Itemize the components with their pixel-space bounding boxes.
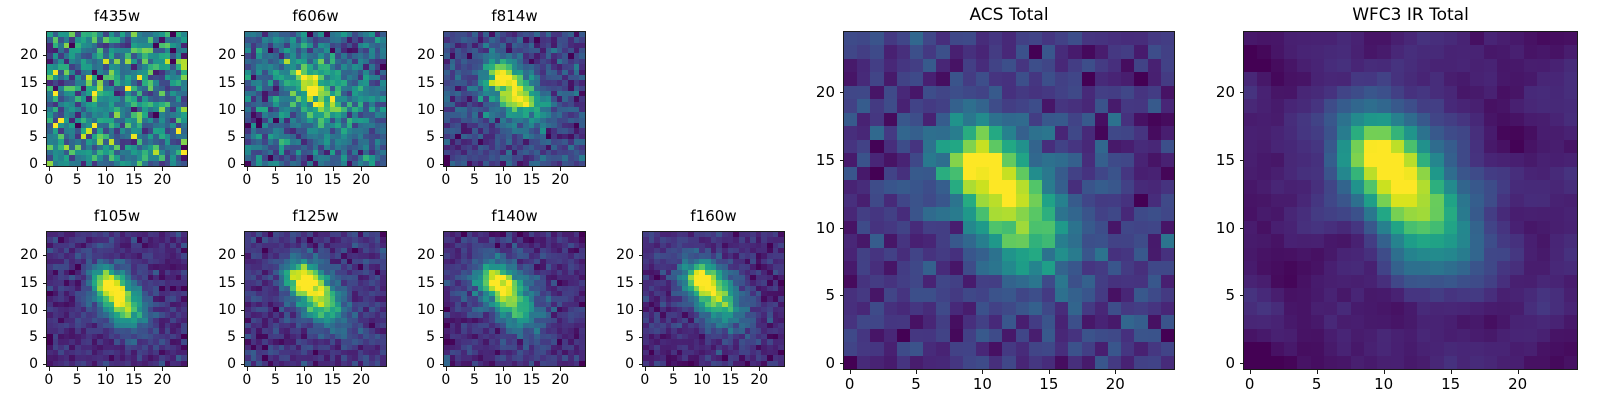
heatmap-cell [857,207,870,220]
heatmap-cell [1082,72,1095,85]
heatmap-cell [910,59,923,72]
heatmap-cell [1134,126,1147,139]
heatmap-cell [1002,180,1015,193]
heatmap-cell [936,113,949,126]
heatmap-axes [843,31,1175,370]
heatmap-cell [910,45,923,58]
y-axis-tick-label: 0 [227,356,236,372]
heatmap-cell [1108,86,1121,99]
x-axis-tick-label: 15 [125,372,143,388]
heatmap-cell [1161,153,1174,166]
heatmap-cell [1042,167,1055,180]
heatmap-cell [1148,194,1161,207]
heatmap-cell [923,86,936,99]
x-axis-tick [304,167,305,171]
heatmap-cell [884,248,897,261]
y-axis-tick [43,137,47,138]
y-axis-tick-label: 15 [20,75,38,91]
heatmap-cell [1082,86,1095,99]
heatmap-cell [1068,72,1081,85]
y-axis-tick [241,83,245,84]
heatmap-cell [1148,180,1161,193]
y-axis-tick-label: 15 [417,75,435,91]
heatmap-cell [989,261,1002,274]
heatmap-cell [950,167,963,180]
heatmap-cell [1042,113,1055,126]
panel-f125w: f125w0510152005101520 [244,231,387,367]
heatmap-cell [1134,59,1147,72]
y-axis-tick [241,364,245,365]
heatmap-cell [936,180,949,193]
heatmap-cell [923,167,936,180]
heatmap-cell [1121,194,1134,207]
heatmap-cell [950,72,963,85]
heatmap-cell [1161,45,1174,58]
heatmap-cell [1016,126,1029,139]
heatmap-cell [963,72,976,85]
heatmap-cell [1002,32,1015,45]
heatmap-cell [884,261,897,274]
heatmap-cell [844,99,857,112]
heatmap-cell [1134,234,1147,247]
heatmap-cell [950,126,963,139]
x-axis-tick [134,367,135,371]
heatmap-cell [884,234,897,247]
heatmap-cell [1055,99,1068,112]
heatmap-cell [857,153,870,166]
heatmap-cell [1148,126,1161,139]
heatmap-cell [1082,113,1095,126]
heatmap-cell [1068,99,1081,112]
y-axis-tick [43,364,47,365]
heatmap-cell [1082,59,1095,72]
x-axis-tick-label: 20 [352,172,370,188]
y-axis-tick-label: 0 [29,156,38,172]
heatmap-cell [1042,221,1055,234]
panel-title: f125w [244,207,387,225]
y-axis-tick-label: 10 [616,302,634,318]
heatmap-cell [884,221,897,234]
heatmap-cell [1068,248,1081,261]
heatmap-cell [870,86,883,99]
heatmap-cell [910,261,923,274]
y-axis-tick [43,110,47,111]
heatmap-cell [963,99,976,112]
x-axis-tick-label: 15 [324,372,342,388]
heatmap-cell [1042,234,1055,247]
x-axis-tick-label: 0 [441,372,450,388]
heatmap-cell [844,45,857,58]
heatmap-cell [1016,221,1029,234]
heatmap-cell [989,45,1002,58]
heatmap-cell [1095,153,1108,166]
heatmap-cell [1055,167,1068,180]
heatmap-cell [870,113,883,126]
x-axis-tick [77,167,78,171]
heatmap-cell [923,153,936,166]
x-axis-tick [560,167,561,171]
heatmap-cell [1055,207,1068,220]
heatmap-cell [1029,207,1042,220]
heatmap-cell [1068,86,1081,99]
heatmap-cell [1121,261,1134,274]
x-axis-tick-label: 10 [295,172,313,188]
heatmap-cell [989,59,1002,72]
heatmap-cell [950,153,963,166]
heatmap-cell [1161,113,1174,126]
x-axis-tick [759,367,760,371]
heatmap-cell [910,167,923,180]
heatmap-cell [1095,140,1108,153]
heatmap-cell [1029,45,1042,58]
heatmap-cell [923,207,936,220]
x-axis-tick [247,167,248,171]
heatmap-cell [1068,234,1081,247]
heatmap-grid [245,32,386,166]
heatmap-cell [1016,113,1029,126]
heatmap-cell [923,32,936,45]
x-axis-tick [361,367,362,371]
heatmap-cell [857,113,870,126]
heatmap-cell [963,153,976,166]
y-axis-tick [440,310,444,311]
x-axis-tick [702,367,703,371]
heatmap-cell [897,32,910,45]
x-axis-tick-label: 15 [523,172,541,188]
heatmap-cell [870,72,883,85]
heatmap-cell [1082,207,1095,220]
heatmap-cell [1095,99,1108,112]
heatmap-cell [844,72,857,85]
heatmap-cell [1002,234,1015,247]
heatmap-cell [989,248,1002,261]
heatmap-cell [976,99,989,112]
heatmap-cell [1016,207,1029,220]
heatmap-cell [579,361,585,366]
heatmap-cell [884,167,897,180]
heatmap-cell [1042,153,1055,166]
heatmap-cell [936,153,949,166]
heatmap-cell [870,153,883,166]
heatmap-cell [963,113,976,126]
x-axis-tick [77,367,78,371]
heatmap-cell [1121,86,1134,99]
y-axis-tick [241,110,245,111]
y-axis-tick-label: 5 [426,129,435,145]
heatmap-cell [1042,140,1055,153]
heatmap-cell [1068,180,1081,193]
heatmap-grid [47,32,187,166]
heatmap-cell [910,140,923,153]
y-axis-tick [440,83,444,84]
y-axis-tick-label: 10 [218,302,236,318]
heatmap-cell [1082,234,1095,247]
heatmap-cell [857,167,870,180]
heatmap-cell [989,180,1002,193]
heatmap-cell [884,86,897,99]
heatmap-cell [897,167,910,180]
heatmap-cell [897,153,910,166]
heatmap-cell [1068,194,1081,207]
heatmap-cell [936,207,949,220]
heatmap-cell [1134,45,1147,58]
heatmap-cell [1029,140,1042,153]
heatmap-cell [976,207,989,220]
heatmap-cell [1121,248,1134,261]
heatmap-cell [1042,180,1055,193]
y-axis-tick-label: 0 [227,156,236,172]
heatmap-cell [1055,72,1068,85]
heatmap-cell [910,234,923,247]
heatmap-cell [897,194,910,207]
heatmap-cell [1095,221,1108,234]
heatmap-cell [1016,153,1029,166]
heatmap-cell [1029,261,1042,274]
heatmap-cell [1029,180,1042,193]
heatmap-cell [857,126,870,139]
heatmap-cell [1095,194,1108,207]
heatmap-cell [1161,140,1174,153]
panel-f140w: f140w0510152005101520 [443,231,586,367]
heatmap-cell [857,248,870,261]
heatmap-cell [844,275,857,288]
heatmap-cell [923,45,936,58]
heatmap-cell [1029,86,1042,99]
heatmap-cell [884,126,897,139]
heatmap-cell [963,207,976,220]
y-axis-tick-label: 0 [426,356,435,372]
x-axis-tick [474,367,475,371]
heatmap-cell [1161,194,1174,207]
heatmap-cell [1095,113,1108,126]
heatmap-cell [910,194,923,207]
heatmap-cell [936,86,949,99]
heatmap-cell [1029,167,1042,180]
x-axis-tick-label: 15 [523,372,541,388]
heatmap-cell [1108,153,1121,166]
heatmap-cell [1002,86,1015,99]
heatmap-cell [870,261,883,274]
heatmap-cell [1121,32,1134,45]
heatmap-cell [1082,180,1095,193]
figure-canvas: f435w0510152005101520f606w05101520051015… [0,0,1600,400]
y-axis-tick-label: 20 [417,47,435,63]
heatmap-cell [1108,140,1121,153]
heatmap-cell [950,207,963,220]
heatmap-cell [844,194,857,207]
heatmap-cell [1121,234,1134,247]
heatmap-cell [910,113,923,126]
x-axis-tick-label: 20 [154,172,172,188]
heatmap-cell [1002,99,1015,112]
y-axis-tick [440,110,444,111]
heatmap-cell [1108,45,1121,58]
heatmap-cell [1134,140,1147,153]
heatmap-cell [857,72,870,85]
x-axis-tick [560,367,561,371]
heatmap-cell [1148,140,1161,153]
x-axis-tick-label: 15 [125,172,143,188]
heatmap-cell [923,99,936,112]
heatmap-cell [1016,234,1029,247]
y-axis-tick-label: 15 [20,275,38,291]
heatmap-cell [1121,126,1134,139]
x-axis-tick-label: 5 [470,172,479,188]
heatmap-cell [1016,32,1029,45]
heatmap-cell [1068,59,1081,72]
heatmap-cell [950,194,963,207]
heatmap-cell [910,180,923,193]
heatmap-cell [844,221,857,234]
heatmap-cell [1082,153,1095,166]
heatmap-cell [1082,194,1095,207]
heatmap-cell [1055,248,1068,261]
heatmap-cell [1121,59,1134,72]
heatmap-cell [1042,99,1055,112]
heatmap-cell [181,361,187,366]
x-axis-tick-label: 10 [295,372,313,388]
heatmap-cell [989,32,1002,45]
x-axis-tick-label: 15 [324,172,342,188]
heatmap-cell [1095,32,1108,45]
heatmap-cell [1082,221,1095,234]
heatmap-cell [1134,86,1147,99]
heatmap-cell [1095,72,1108,85]
panel-title: f435w [46,7,188,25]
heatmap-cell [870,248,883,261]
x-axis-tick [532,367,533,371]
heatmap-cell [1042,207,1055,220]
y-axis-tick [440,364,444,365]
heatmap-cell [1002,167,1015,180]
heatmap-grid [643,232,784,366]
heatmap-cell [976,126,989,139]
heatmap-cell [1108,234,1121,247]
heatmap-cell [857,140,870,153]
heatmap-cell [1029,59,1042,72]
heatmap-cell [1134,72,1147,85]
heatmap-cell [963,167,976,180]
heatmap-cell [1002,207,1015,220]
x-axis-tick-label: 20 [551,372,569,388]
y-axis-tick [241,137,245,138]
heatmap-cell [844,86,857,99]
heatmap-cell [897,180,910,193]
heatmap-cell [963,126,976,139]
heatmap-cell [1055,153,1068,166]
heatmap-cell [844,59,857,72]
heatmap-cell [1161,221,1174,234]
heatmap-cell [976,45,989,58]
heatmap-cell [870,45,883,58]
heatmap-cell [1148,261,1161,274]
heatmap-cell [857,86,870,99]
heatmap-cell [1108,99,1121,112]
heatmap-cell [936,234,949,247]
heatmap-cell [976,248,989,261]
heatmap-cell [1134,167,1147,180]
heatmap-cell [884,194,897,207]
heatmap-cell [1042,32,1055,45]
heatmap-grid [47,232,187,366]
heatmap-cell [1161,261,1174,274]
x-axis-tick [731,367,732,371]
heatmap-cell [1055,126,1068,139]
heatmap-cell [1029,32,1042,45]
heatmap-cell [989,126,1002,139]
heatmap-cell [1016,45,1029,58]
y-axis-tick [440,164,444,165]
y-axis-tick-label: 20 [218,47,236,63]
heatmap-cell [1055,45,1068,58]
heatmap-cell [923,59,936,72]
heatmap-cell [1108,126,1121,139]
heatmap-cell [1121,140,1134,153]
heatmap-cell [1042,59,1055,72]
heatmap-cell [963,194,976,207]
heatmap-cell [1016,72,1029,85]
heatmap-cell [380,161,386,166]
heatmap-cell [1121,45,1134,58]
y-axis-tick-label: 5 [29,129,38,145]
x-axis-tick-label: 10 [97,172,115,188]
heatmap-cell [1121,153,1134,166]
x-axis-tick [673,367,674,371]
heatmap-cell [181,161,187,166]
heatmap-cell [1082,140,1095,153]
y-axis-tick-label: 5 [426,329,435,345]
heatmap-cell [1002,153,1015,166]
heatmap-cell [936,248,949,261]
heatmap-cell [870,194,883,207]
heatmap-cell [1148,167,1161,180]
heatmap-cell [1121,72,1134,85]
heatmap-cell [1068,126,1081,139]
y-axis-tick [440,337,444,338]
heatmap-cell [1042,86,1055,99]
heatmap-cell [1121,221,1134,234]
heatmap-cell [857,221,870,234]
heatmap-cell [1108,113,1121,126]
y-axis-tick-label: 5 [227,129,236,145]
heatmap-cell [1148,207,1161,220]
heatmap-cell [910,248,923,261]
heatmap-cell [1134,32,1147,45]
heatmap-cell [1082,99,1095,112]
heatmap-cell [897,45,910,58]
heatmap-cell [976,234,989,247]
heatmap-cell [1002,126,1015,139]
heatmap-cell [1016,261,1029,274]
y-axis-tick [639,364,643,365]
heatmap-cell [1055,32,1068,45]
heatmap-cell [857,180,870,193]
heatmap-cell [1068,32,1081,45]
heatmap-cell [1095,167,1108,180]
x-axis-tick-label: 0 [242,172,251,188]
heatmap-cell [884,207,897,220]
heatmap-cell [989,86,1002,99]
y-axis-tick [440,55,444,56]
heatmap-cell [1042,194,1055,207]
heatmap-cell [1029,194,1042,207]
heatmap-cell [1095,261,1108,274]
heatmap-cell [870,32,883,45]
heatmap-cell [844,167,857,180]
heatmap-cell [1016,180,1029,193]
y-axis-tick [440,255,444,256]
y-axis-tick [241,164,245,165]
